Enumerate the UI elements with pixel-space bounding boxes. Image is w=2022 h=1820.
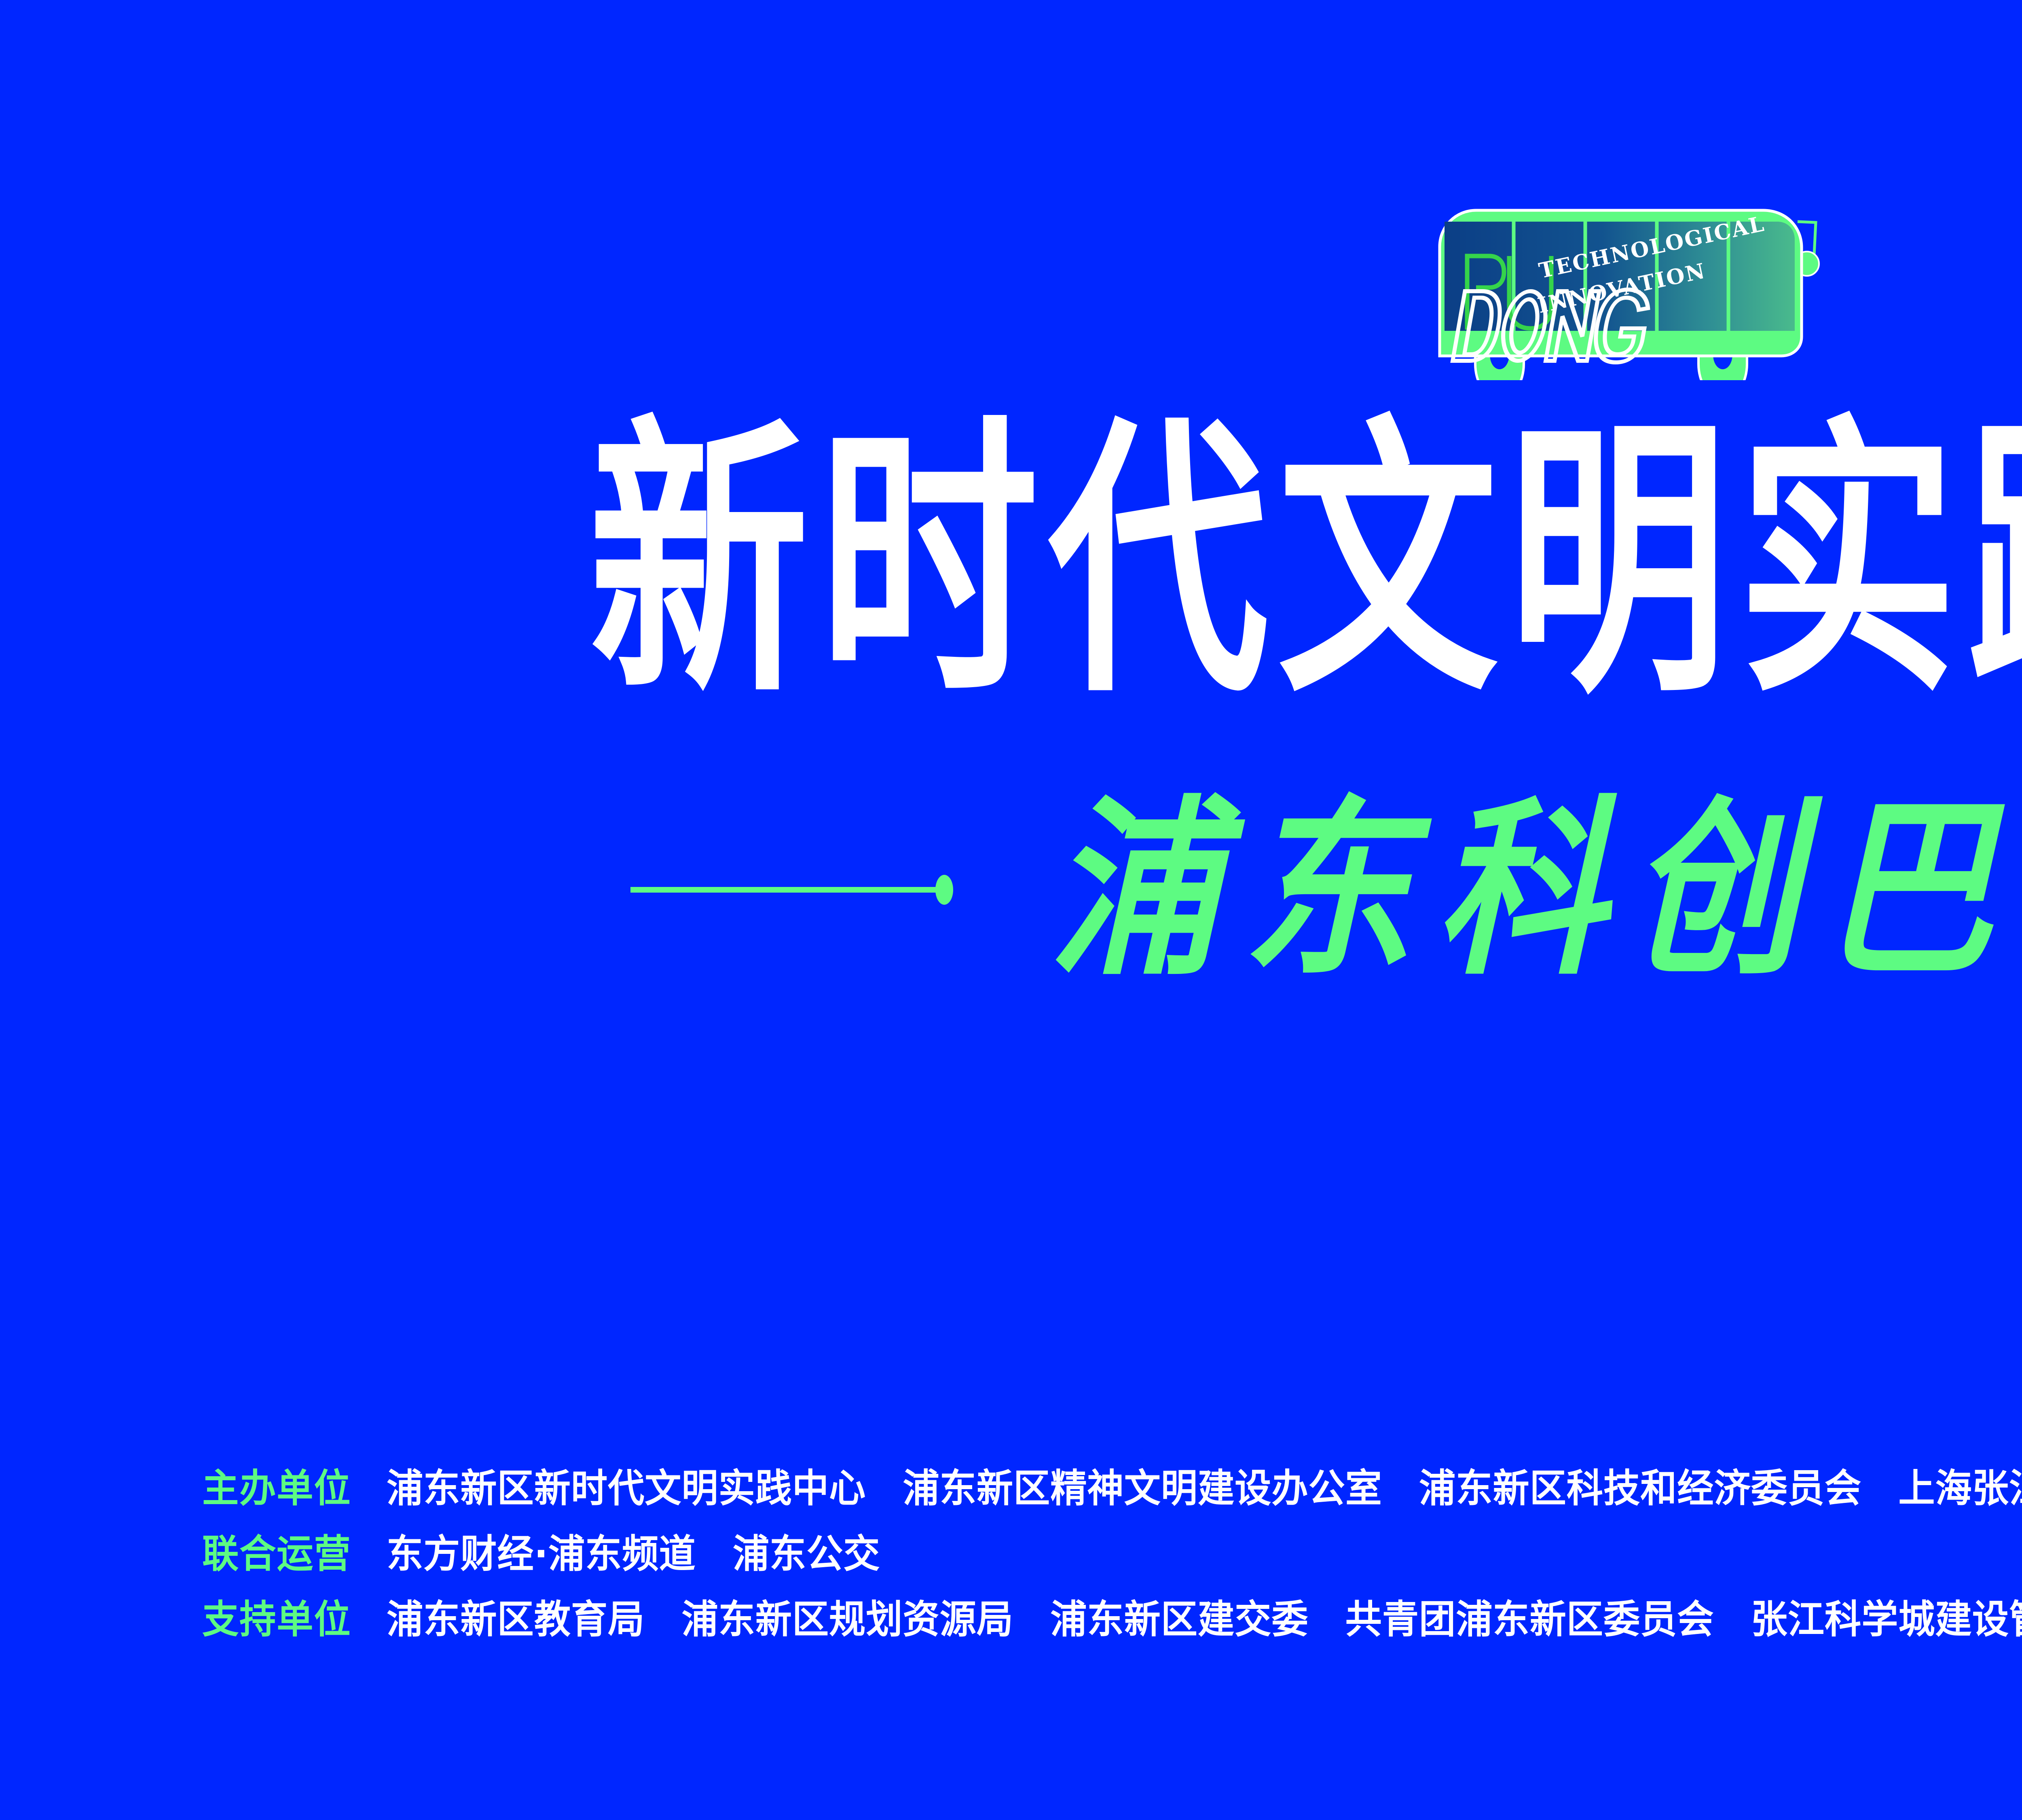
pudong-sci-tech-bus-logo: TECHNOLOGICAL INNOVATION [1415, 162, 1852, 380]
page-title: 新时代文明实践线路 [324, 413, 2022, 713]
subtitle-row: 浦东科创巴士 [0, 764, 2022, 1015]
rule-line-left [630, 887, 938, 893]
credit-orgs-supporters: 浦东新区教育局 浦东新区规划资源局 浦东新区建交委 共青团浦东新区委员会 张江科… [387, 1597, 2022, 1642]
credit-label-organizers: 主办单位 [202, 1466, 351, 1511]
credits-block: 主办单位 浦东新区新时代文明实践中心 浦东新区精神文明建设办公室 浦东新区科技和… [202, 1466, 2022, 1663]
credit-row-supporters: 支持单位 浦东新区教育局 浦东新区规划资源局 浦东新区建交委 共青团浦东新区委员… [202, 1597, 2022, 1642]
poster-canvas: TECHNOLOGICAL INNOVATION 新时代文明实践线路 浦东科创巴… [0, 0, 2022, 1820]
credit-row-organizers: 主办单位 浦东新区新时代文明实践中心 浦东新区精神文明建设办公室 浦东新区科技和… [202, 1466, 2022, 1511]
credit-row-operators: 联合运营 东方财经·浦东频道 浦东公交 [202, 1532, 2022, 1576]
decorative-rule-left [630, 875, 953, 905]
rule-dot-left [935, 875, 953, 905]
credit-orgs-organizers: 浦东新区新时代文明实践中心 浦东新区精神文明建设办公室 浦东新区科技和经济委员会… [387, 1466, 2022, 1511]
credit-label-operators: 联合运营 [202, 1532, 351, 1576]
credit-label-supporters: 支持单位 [202, 1597, 351, 1642]
credit-orgs-operators: 东方财经·浦东频道 浦东公交 [387, 1532, 880, 1576]
page-subtitle: 浦东科创巴士 [953, 795, 2022, 985]
bus-icon: TECHNOLOGICAL INNOVATION [1415, 162, 1852, 380]
